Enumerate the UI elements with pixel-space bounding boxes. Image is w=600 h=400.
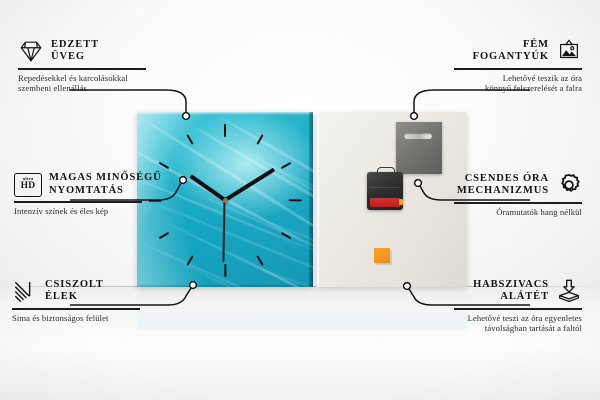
- feature-edzett-uveg: EDZETT ÜVEG Repedésekkel és karcolásokka…: [18, 38, 218, 94]
- feature-desc-line1: Lehetővé teszi az óra egyenletes: [382, 313, 582, 324]
- glass-right-edge: [309, 112, 313, 287]
- feature-title-line1: CSENDES ÓRA: [457, 173, 549, 186]
- feature-csendes-ora-mechanizmus: CSENDES ÓRA MECHANIZMUS Óramutatók hang …: [382, 172, 582, 217]
- feature-title-line1: CSISZOLT: [45, 279, 104, 292]
- feature-fem-fogantyuk: FÉM FOGANTYÚK Lehetővé teszik az óra kön…: [382, 38, 582, 94]
- hour-marker: [186, 134, 193, 145]
- hour-marker: [256, 255, 263, 266]
- picture-hanger-icon: [556, 38, 582, 64]
- hour-marker: [224, 124, 226, 137]
- feature-desc-line2: szembeni ellenállás: [18, 83, 218, 94]
- hour-marker: [159, 231, 170, 238]
- feature-title-line2: ÉLEK: [45, 291, 104, 304]
- feature-title-line2: ÜVEG: [51, 51, 99, 64]
- diamond-icon: [18, 38, 44, 64]
- foam-pad-press-icon: [556, 278, 582, 304]
- feature-title-line1: FÉM: [473, 39, 549, 52]
- feature-title-line1: MAGAS MINŐSÉGŰ: [49, 172, 162, 185]
- hanger-slot: [404, 133, 432, 139]
- feature-divider: [454, 202, 582, 204]
- feature-desc-line1: Lehetővé teszik az óra: [382, 73, 582, 84]
- hand-center-cap: [223, 198, 228, 203]
- feature-title-line1: EDZETT: [51, 39, 99, 52]
- feature-title-line2: ALÁTÉT: [473, 291, 549, 304]
- feature-desc-line2: könnyű felszerelését a falra: [382, 83, 582, 94]
- feature-magas-minosegu-nyomtatas: ultra HD MAGAS MINŐSÉGŰ NYOMTATÁS Intenz…: [14, 172, 214, 216]
- hour-marker: [288, 199, 301, 201]
- feature-divider: [18, 68, 146, 70]
- feature-title-line2: NYOMTATÁS: [49, 185, 162, 198]
- gear-icon: [556, 172, 582, 198]
- feather-stroke: [266, 220, 313, 287]
- feature-desc-line1: Repedésekkel és karcolásokkal: [18, 73, 218, 84]
- foam-pad: [374, 248, 390, 263]
- metal-hanger-plate: [396, 122, 442, 174]
- feature-desc-line2: távolságban tartását a faltól: [382, 323, 582, 334]
- feature-csiszolt-elek: CSISZOLT ÉLEK Sima és biztonságos felüle…: [12, 278, 212, 323]
- feature-title-line2: MECHANIZMUS: [457, 185, 549, 198]
- feature-desc-line1: Óramutatók hang nélkül: [382, 207, 582, 218]
- feature-title-line2: FOGANTYÚK: [473, 51, 549, 64]
- hour-marker: [280, 161, 291, 168]
- feature-divider: [14, 201, 142, 203]
- hour-marker: [224, 264, 226, 277]
- ultra-hd-badge-icon: ultra HD: [14, 173, 42, 197]
- back-panel-left-edge: [317, 112, 319, 287]
- badge-hd-label: HD: [21, 182, 36, 192]
- feature-divider: [12, 308, 140, 310]
- feature-desc-line1: Intenzív színek és éles kép: [14, 206, 214, 217]
- feature-divider: [454, 68, 582, 70]
- beveled-edge-icon: [12, 278, 38, 304]
- feature-divider: [454, 308, 582, 310]
- feather-stroke: [158, 204, 313, 286]
- glass-top-edge: [137, 112, 313, 115]
- feature-title-line1: HABSZIVACS: [473, 279, 549, 292]
- feature-habszivacs-alatet: HABSZIVACS ALÁTÉT Lehetővé teszi az óra …: [382, 278, 582, 334]
- feature-desc-line1: Sima és biztonságos felület: [12, 313, 212, 324]
